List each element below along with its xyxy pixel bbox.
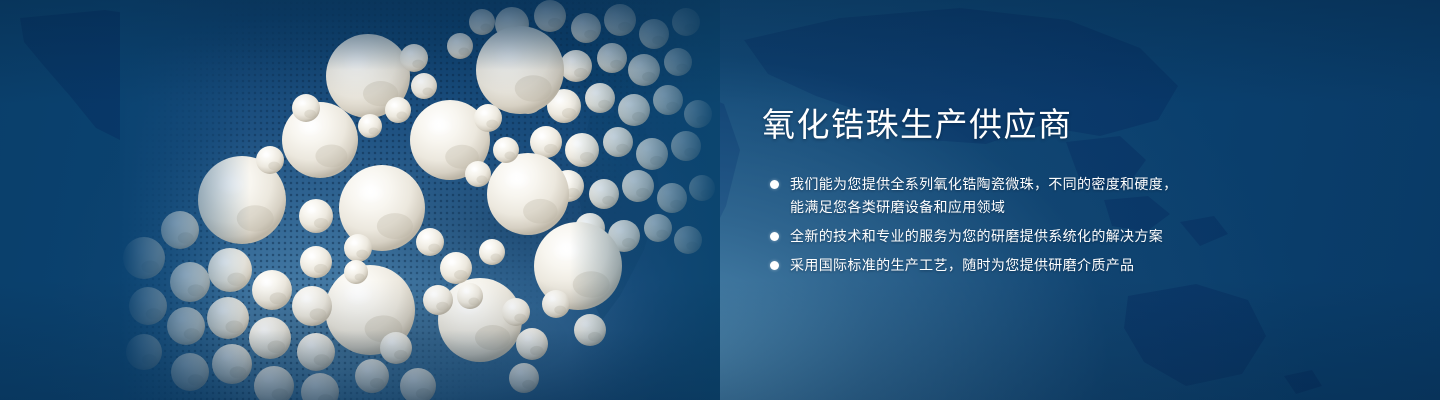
- bullet-line: 能满足您各类研磨设备和应用领域: [790, 196, 1362, 219]
- bullet-dot-icon: [770, 232, 779, 241]
- banner-copy: 氧化锆珠生产供应商 我们能为您提供全系列氧化锆陶瓷微珠，不同的密度和硬度， 能满…: [762, 104, 1362, 277]
- bullet-line: 全新的技术和专业的服务为您的研磨提供系统化的解决方案: [790, 225, 1362, 248]
- banner-headline: 氧化锆珠生产供应商: [762, 104, 1362, 146]
- hero-banner: 氧化锆珠生产供应商 我们能为您提供全系列氧化锆陶瓷微珠，不同的密度和硬度， 能满…: [0, 0, 1440, 400]
- bullet-dot-icon: [770, 261, 779, 270]
- bead-cluster: [120, 0, 720, 400]
- bullet-line: 采用国际标准的生产工艺，随时为您提供研磨介质产品: [790, 254, 1362, 277]
- list-item: 采用国际标准的生产工艺，随时为您提供研磨介质产品: [762, 254, 1362, 277]
- banner-bullet-list: 我们能为您提供全系列氧化锆陶瓷微珠，不同的密度和硬度， 能满足您各类研磨设备和应…: [762, 173, 1362, 277]
- list-item: 全新的技术和专业的服务为您的研磨提供系统化的解决方案: [762, 225, 1362, 248]
- list-item: 我们能为您提供全系列氧化锆陶瓷微珠，不同的密度和硬度， 能满足您各类研磨设备和应…: [762, 173, 1362, 219]
- zirconia-beads-photo: [120, 0, 720, 400]
- bullet-line: 我们能为您提供全系列氧化锆陶瓷微珠，不同的密度和硬度，: [790, 173, 1362, 196]
- bullet-dot-icon: [770, 180, 779, 189]
